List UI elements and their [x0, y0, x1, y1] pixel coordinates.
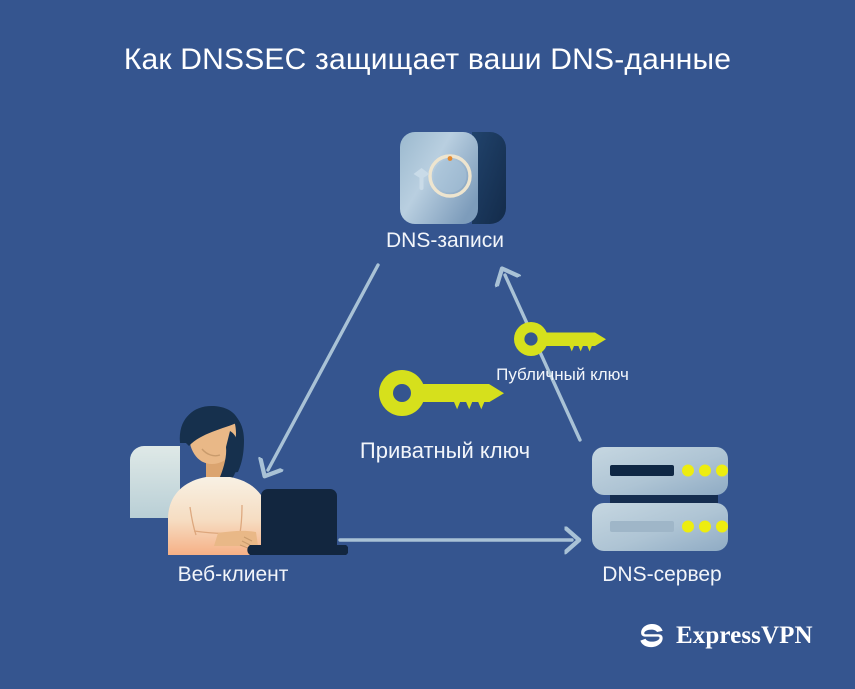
person-laptop-icon	[118, 405, 348, 555]
public-key-node	[513, 322, 609, 362]
dns-records-label: DNS-записи	[377, 228, 513, 254]
dns-server-node	[588, 445, 736, 555]
expressvpn-wordmark: ExpressVPN	[676, 622, 813, 650]
expressvpn-logo: ExpressVPN	[636, 618, 788, 654]
web-client-node	[118, 405, 348, 555]
dns-records-node	[377, 128, 513, 228]
key-icon	[378, 370, 508, 424]
infographic-canvas: Как DNSSEC защищает ваши DNS-данные	[0, 0, 855, 689]
private-key-node	[378, 370, 508, 424]
page-title: Как DNSSEC защищает ваши DNS-данные	[0, 40, 855, 80]
dns-server-label: DNS-сервер	[580, 562, 744, 588]
web-client-label: Веб-клиент	[118, 562, 348, 588]
expressvpn-e-mark-icon	[636, 621, 667, 652]
private-key-label: Приватный ключ	[340, 437, 550, 465]
server-rack-icon	[588, 445, 736, 555]
safe-icon	[377, 128, 513, 228]
key-icon	[513, 322, 609, 362]
